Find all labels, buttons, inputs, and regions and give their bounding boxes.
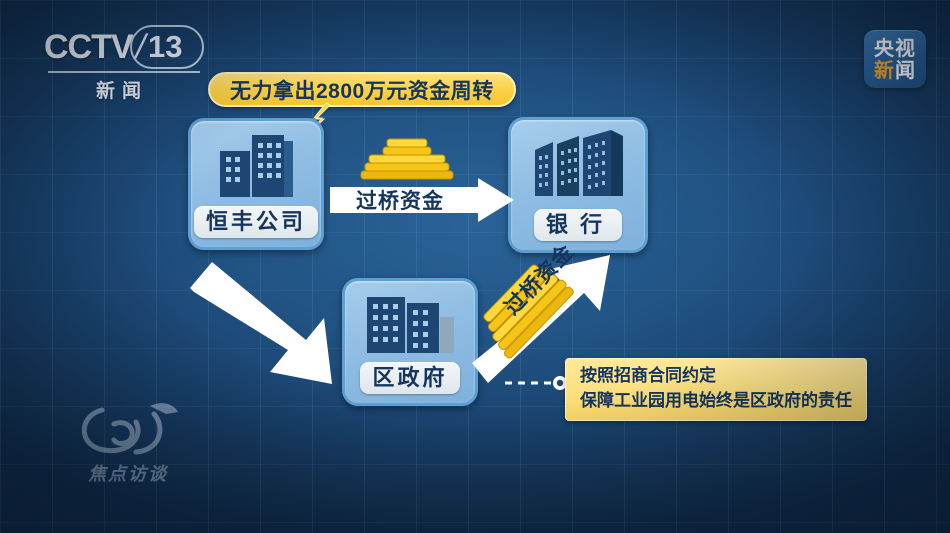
badge-line2-orange: 新: [874, 60, 895, 82]
dashed-connector: [505, 372, 573, 394]
program-watermark-text: 焦点访谈: [62, 460, 194, 486]
bank-buildings-icon: [511, 120, 645, 209]
badge-line-2: 新闻: [874, 61, 916, 82]
cctv13-logo: CCTV / 13 新闻: [44, 26, 204, 94]
coin-stack-icon-horizontal: [357, 137, 457, 181]
program-watermark: 焦点访谈: [62, 398, 194, 490]
entity-label-government: 区政府: [372, 365, 447, 390]
entity-label-bank: 银 行: [546, 212, 610, 237]
badge-line2-white: 闻: [895, 60, 916, 82]
government-buildings-icon: [345, 281, 475, 362]
focus-interview-logo-icon: [62, 398, 194, 460]
entity-label-plate-hengfeng: 恒丰公司: [194, 206, 318, 238]
broadcast-graphic: CCTV / 13 新闻 央视 新闻 无力拿出2800万元资金周转: [0, 0, 950, 533]
office-buildings-icon: [191, 121, 321, 206]
caption-line-1: 按照招商合同约定: [580, 364, 852, 389]
cctv-number-oval: [130, 25, 204, 69]
entity-label-plate-government: 区政府: [360, 362, 459, 394]
headline-banner: 无力拿出2800万元资金周转: [208, 72, 516, 107]
plain-flow-arrow: [190, 262, 350, 394]
caption-box: 按照招商合同约定 保障工业园用电始终是区政府的责任: [565, 358, 867, 421]
cctv-wordmark: CCTV: [44, 30, 133, 64]
flow-label-horizontal: 过桥资金: [356, 185, 444, 215]
badge-line-1: 央视: [874, 39, 916, 60]
cctv-underline: [48, 71, 200, 73]
caption-line-2: 保障工业园用电始终是区政府的责任: [580, 389, 852, 414]
headline-banner-text: 无力拿出2800万元资金周转: [230, 75, 494, 105]
entity-box-government[interactable]: 区政府: [342, 278, 478, 406]
cctv-subtitle: 新闻: [96, 76, 148, 103]
cctv-news-badge: 央视 新闻: [864, 30, 926, 88]
entity-box-bank[interactable]: 银 行: [508, 117, 648, 253]
entity-box-hengfeng[interactable]: 恒丰公司: [188, 118, 324, 250]
entity-label-hengfeng: 恒丰公司: [206, 209, 306, 234]
entity-label-plate-bank: 银 行: [534, 209, 622, 241]
